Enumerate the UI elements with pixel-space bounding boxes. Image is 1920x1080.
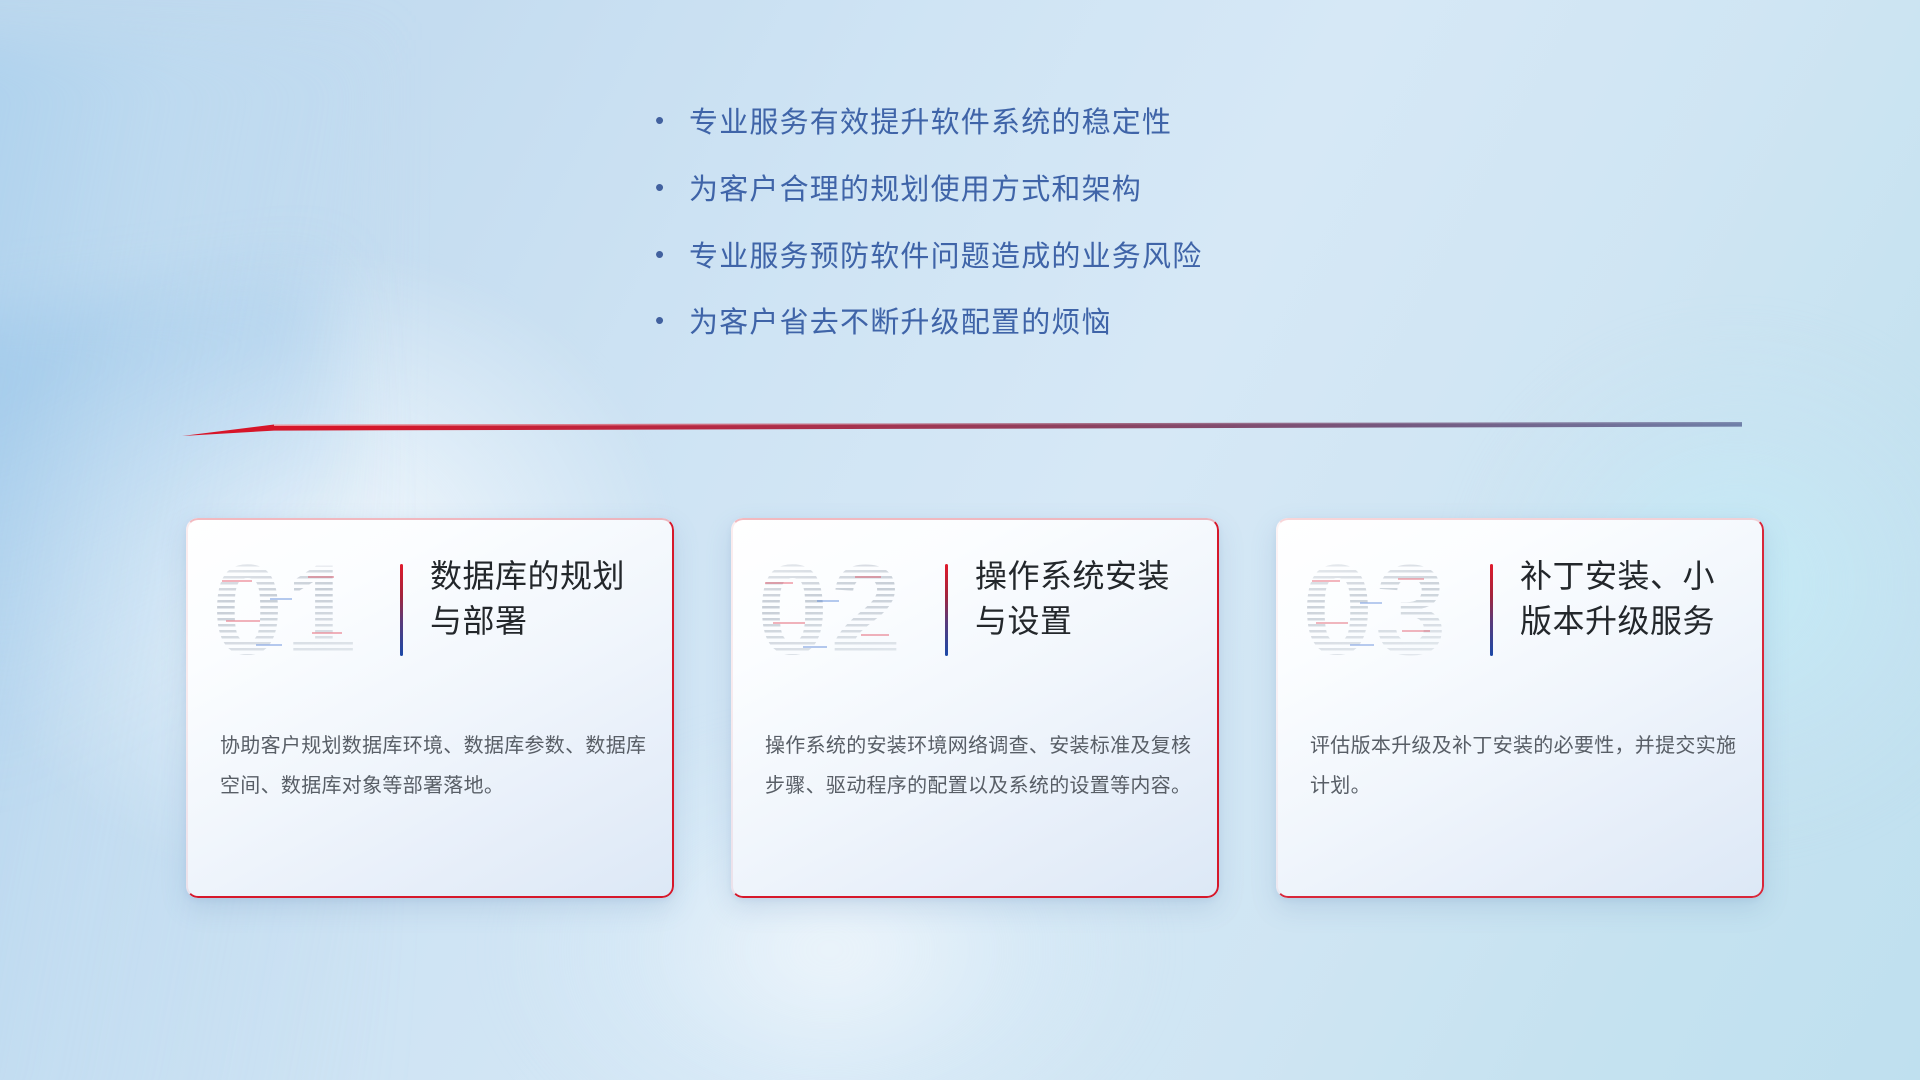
card-header: 03 补丁安装、小 版本升 [1276, 518, 1764, 718]
card-header: 01 数据库的规划 与部署 [186, 518, 674, 718]
card-title-line-1: 数据库的规划 [430, 554, 670, 599]
benefits-bullet-list: • 专业服务有效提升软件系统的稳定性 • 为客户合理的规划使用方式和架构 • 专… [655, 106, 1475, 373]
list-item: • 专业服务预防软件问题造成的业务风险 [655, 240, 1475, 275]
striped-number-icon: 01 [212, 546, 402, 676]
bullet-label: 专业服务预防软件问题造成的业务风险 [689, 240, 1202, 275]
card-title: 数据库的规划 与部署 [430, 554, 670, 645]
card-title: 操作系统安装 与设置 [975, 554, 1215, 645]
card-accent-bar [1490, 564, 1493, 656]
card-title-line-2: 与部署 [430, 599, 670, 644]
card-header: 02 操作系统安装 与设置 [731, 518, 1219, 718]
list-item: • 专业服务有效提升软件系统的稳定性 [655, 106, 1475, 141]
bullet-label: 为客户合理的规划使用方式和架构 [689, 173, 1142, 208]
card-number-watermark-01: 01 [212, 546, 402, 676]
svg-text:03: 03 [1302, 546, 1448, 676]
service-card-03[interactable]: 03 补丁安装、小 版本升 [1276, 518, 1764, 898]
card-number-watermark-02: 02 [757, 546, 947, 676]
card-title: 补丁安装、小 版本升级服务 [1520, 554, 1760, 645]
card-number-watermark-03: 03 [1302, 546, 1492, 676]
svg-text:01: 01 [212, 546, 358, 676]
card-title-line-2: 版本升级服务 [1520, 599, 1760, 644]
bullet-dot-icon: • [655, 174, 689, 200]
list-item: • 为客户省去不断升级配置的烦恼 [655, 306, 1475, 341]
card-description: 协助客户规划数据库环境、数据库参数、数据库空间、数据库对象等部署落地。 [220, 726, 650, 806]
bullet-label: 专业服务有效提升软件系统的稳定性 [689, 106, 1172, 141]
section-divider [182, 419, 1742, 441]
slide-stage: • 专业服务有效提升软件系统的稳定性 • 为客户合理的规划使用方式和架构 • 专… [0, 0, 1920, 1080]
service-card-01[interactable]: 01 数据库的规划 与部署 [186, 518, 674, 898]
striped-number-icon: 02 [757, 546, 947, 676]
card-accent-bar [400, 564, 403, 656]
list-item: • 为客户合理的规划使用方式和架构 [655, 173, 1475, 208]
service-card-row: 01 数据库的规划 与部署 [186, 518, 1766, 898]
card-description: 操作系统的安装环境网络调查、安装标准及复核步骤、驱动程序的配置以及系统的设置等内… [765, 726, 1195, 806]
tapered-rule-icon [182, 419, 1742, 441]
service-card-02[interactable]: 02 操作系统安装 与设置 [731, 518, 1219, 898]
striped-number-icon: 03 [1302, 546, 1492, 676]
bullet-dot-icon: • [655, 307, 689, 333]
card-accent-bar [945, 564, 948, 656]
card-title-line-1: 补丁安装、小 [1520, 554, 1760, 599]
card-description: 评估版本升级及补丁安装的必要性，并提交实施计划。 [1310, 726, 1740, 806]
bullet-label: 为客户省去不断升级配置的烦恼 [689, 306, 1112, 341]
card-title-line-2: 与设置 [975, 599, 1215, 644]
bullet-dot-icon: • [655, 241, 689, 267]
bullet-dot-icon: • [655, 107, 689, 133]
svg-text:02: 02 [757, 546, 903, 676]
card-title-line-1: 操作系统安装 [975, 554, 1215, 599]
